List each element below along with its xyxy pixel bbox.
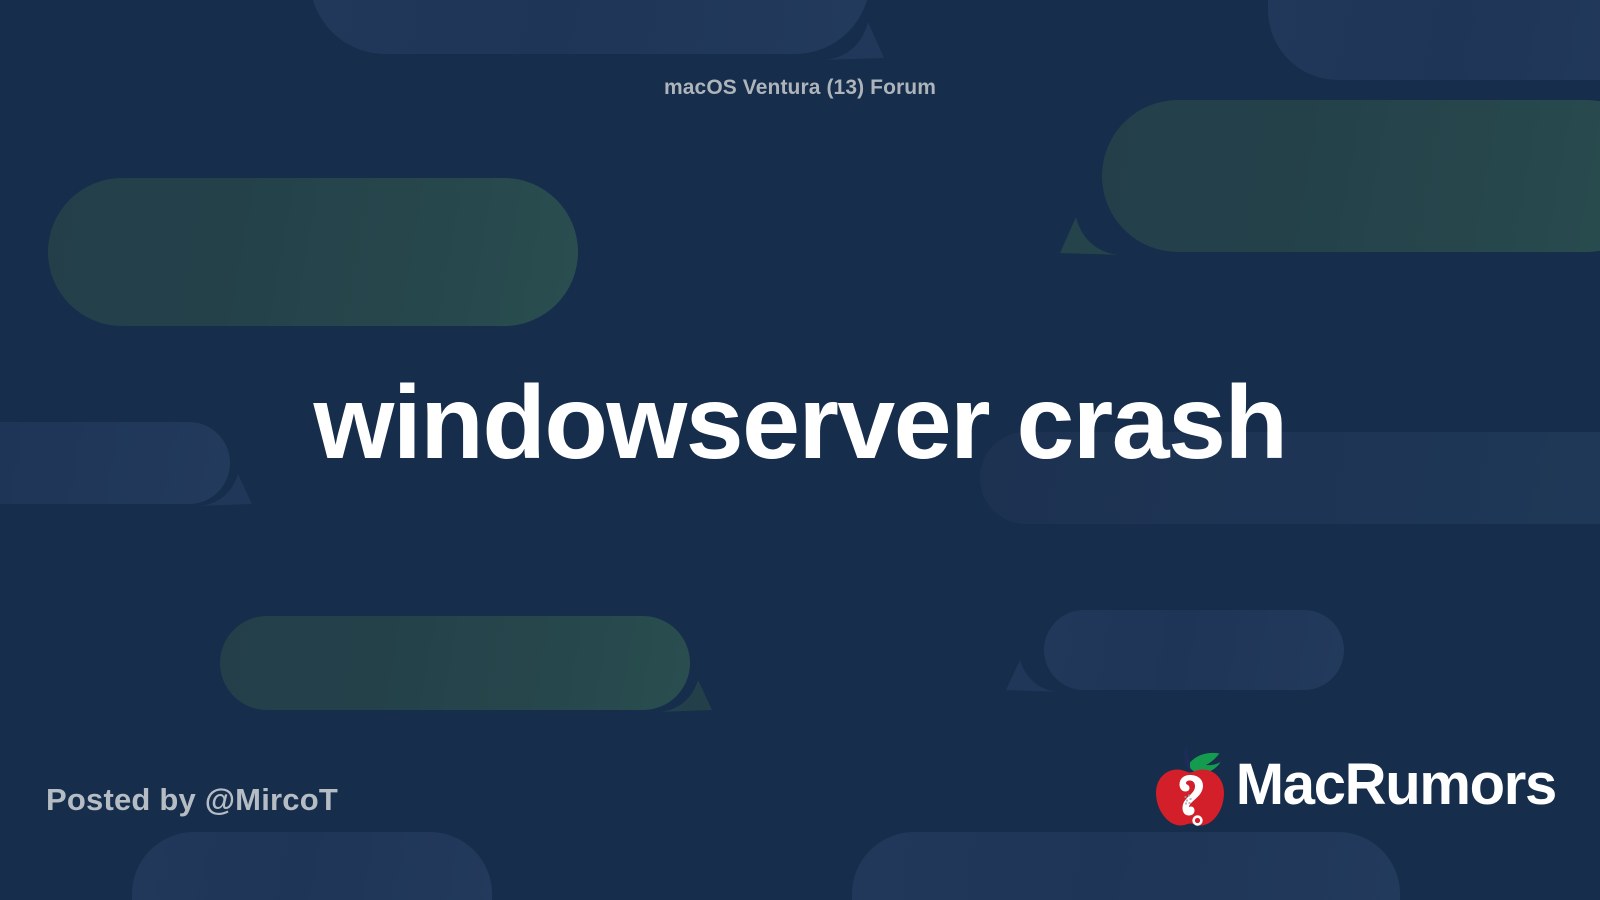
apple-question-mark-icon bbox=[1153, 742, 1227, 828]
posted-by-label: Posted by @MircoT bbox=[46, 782, 338, 818]
card-content: macOS Ventura (13) Forum windowserver cr… bbox=[0, 0, 1600, 900]
macrumors-logo: MacRumors bbox=[1153, 742, 1556, 828]
page-title: windowserver crash bbox=[50, 368, 1550, 478]
social-share-card: macOS Ventura (13) Forum windowserver cr… bbox=[0, 0, 1600, 900]
macrumors-wordmark: MacRumors bbox=[1236, 756, 1556, 814]
forum-label: macOS Ventura (13) Forum bbox=[0, 76, 1600, 100]
